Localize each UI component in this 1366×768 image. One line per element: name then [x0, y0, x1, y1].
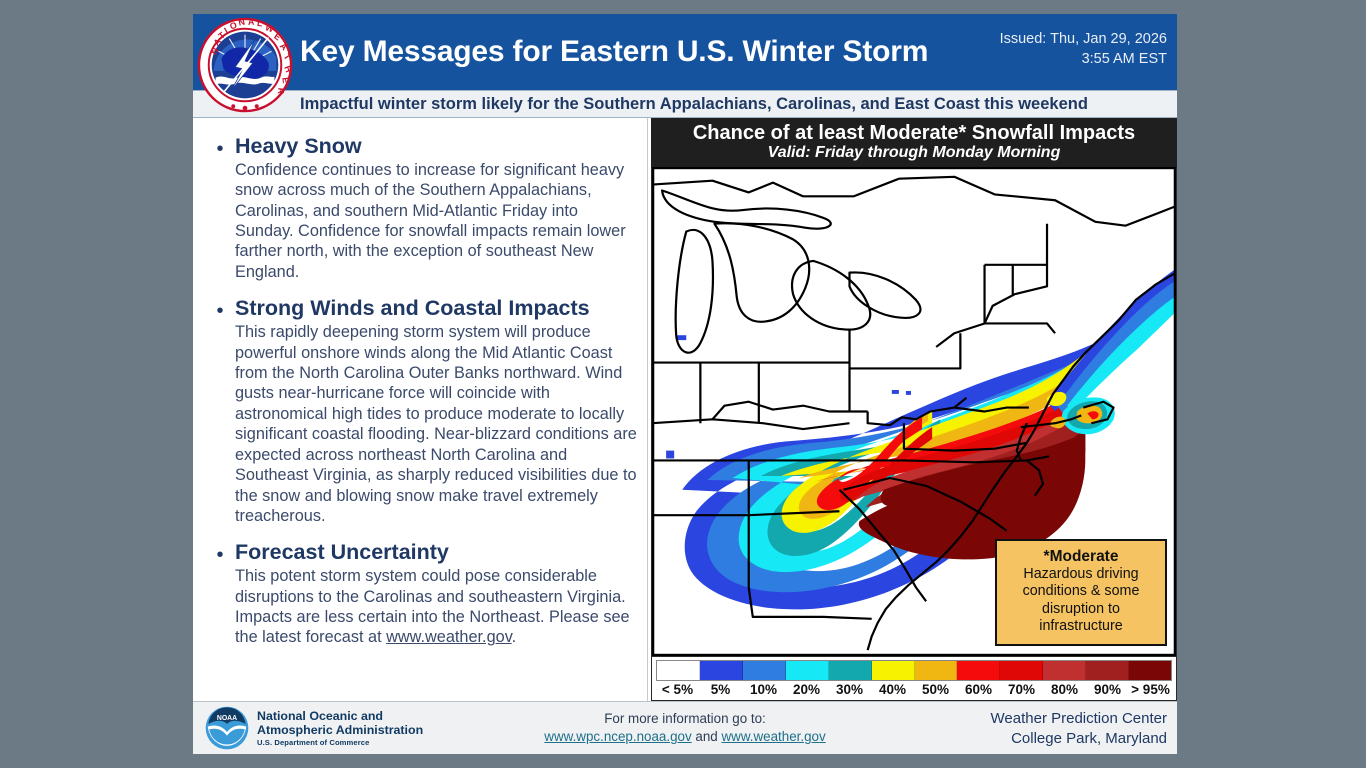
- colorbar-tick-label: 80%: [1043, 681, 1086, 699]
- message-heading: Strong Winds and Coastal Impacts: [235, 296, 641, 321]
- subtitle-text: Impactful winter storm likely for the So…: [300, 95, 1088, 114]
- colorbar-tick-label: 70%: [1000, 681, 1043, 699]
- wpc-link[interactable]: www.wpc.ncep.noaa.gov: [544, 729, 691, 744]
- moderate-title: *Moderate: [1001, 547, 1161, 566]
- issued-timestamp: Issued: Thu, Jan 29, 2026 3:55 AM EST: [1000, 30, 1167, 69]
- issued-date: Issued: Thu, Jan 29, 2026: [1000, 30, 1167, 50]
- colorbar-labels: < 5%5%10%20%30%40%50%60%70%80%90%> 95%: [656, 681, 1172, 699]
- message-text: Confidence continues to increase for sig…: [235, 160, 641, 283]
- colorbar-tick-label: 10%: [742, 681, 785, 699]
- colorbar-tick-label: 30%: [828, 681, 871, 699]
- message-text-after-link: .: [512, 628, 517, 646]
- colorbar-tick-label: 60%: [957, 681, 1000, 699]
- key-messages-column: • Heavy Snow Confidence continues to inc…: [193, 118, 648, 701]
- map-frame: Chance of at least Moderate* Snowfall Im…: [651, 118, 1177, 701]
- colorbar-swatch: [872, 661, 915, 680]
- svg-text:E: E: [280, 77, 291, 84]
- colorbar-legend: < 5%5%10%20%30%40%50%60%70%80%90%> 95%: [651, 657, 1177, 701]
- colorbar-swatch: [1129, 661, 1171, 680]
- bullet-icon: •: [205, 540, 235, 647]
- colorbar-swatch: [657, 661, 700, 680]
- colorbar-swatch: [743, 661, 786, 680]
- map-title: Chance of at least Moderate* Snowfall Im…: [653, 122, 1175, 144]
- footer-bar: NOAA National Oceanic and Atmospheric Ad…: [193, 701, 1177, 754]
- colorbar-tick-label: 40%: [871, 681, 914, 699]
- header-bar: N A T I O N A L W E A T H E R Key Messag…: [193, 14, 1177, 90]
- colorbar-swatch: [829, 661, 872, 680]
- footer-office-location: College Park, Maryland: [991, 729, 1167, 749]
- issued-time: 3:55 AM EST: [1000, 50, 1167, 70]
- colorbar-tick-label: 20%: [785, 681, 828, 699]
- message-text: This rapidly deepening storm system will…: [235, 322, 641, 526]
- colorbar-tick-label: 5%: [699, 681, 742, 699]
- body-area: • Heavy Snow Confidence continues to inc…: [193, 118, 1177, 701]
- moderate-line-1: Hazardous driving: [1001, 566, 1161, 583]
- probability-map[interactable]: *Moderate Hazardous driving conditions &…: [651, 167, 1177, 657]
- subtitle-bar: Impactful winter storm likely for the So…: [193, 90, 1177, 118]
- colorbar-tick-label: < 5%: [656, 681, 699, 699]
- colorbar-tick-label: 90%: [1086, 681, 1129, 699]
- footer-office-name: Weather Prediction Center: [991, 709, 1167, 729]
- moderate-line-4: infrastructure: [1001, 618, 1161, 635]
- colorbar-swatch: [700, 661, 743, 680]
- weather-gov-link[interactable]: www.weather.gov: [386, 628, 512, 646]
- bullet-icon: •: [205, 134, 235, 282]
- footer-office: Weather Prediction Center College Park, …: [991, 709, 1167, 748]
- map-title-bar: Chance of at least Moderate* Snowfall Im…: [651, 118, 1177, 167]
- colorbar-swatch: [1043, 661, 1086, 680]
- colorbar-swatch: [957, 661, 1000, 680]
- colorbar-tick-label: > 95%: [1129, 681, 1172, 699]
- colorbar-swatch: [915, 661, 958, 680]
- message-heading: Forecast Uncertainty: [235, 540, 641, 565]
- colorbar-swatch: [1086, 661, 1129, 680]
- bullet-icon: •: [205, 296, 235, 526]
- colorbar-swatch: [786, 661, 829, 680]
- colorbar-swatches: [656, 660, 1172, 681]
- moderate-line-3: disruption to: [1001, 601, 1161, 618]
- key-message-forecast-uncertainty: • Forecast Uncertainty This potent storm…: [205, 540, 641, 647]
- map-valid-period: Valid: Friday through Monday Morning: [653, 144, 1175, 162]
- message-heading: Heavy Snow: [235, 134, 641, 159]
- svg-text:A: A: [248, 17, 255, 27]
- moderate-definition-box: *Moderate Hazardous driving conditions &…: [995, 539, 1167, 646]
- key-message-strong-winds: • Strong Winds and Coastal Impacts This …: [205, 296, 641, 526]
- nws-logo-icon: N A T I O N A L W E A T H E R: [196, 16, 294, 114]
- footer-conjunction: and: [692, 729, 722, 744]
- colorbar-swatch: [1000, 661, 1043, 680]
- message-text: This potent storm system could pose cons…: [235, 566, 641, 648]
- key-message-heavy-snow: • Heavy Snow Confidence continues to inc…: [205, 134, 641, 282]
- slide-container: N A T I O N A L W E A T H E R Key Messag…: [193, 14, 1177, 754]
- weather-gov-footer-link[interactable]: www.weather.gov: [721, 729, 825, 744]
- map-panel: Chance of at least Moderate* Snowfall Im…: [648, 118, 1177, 701]
- colorbar-tick-label: 50%: [914, 681, 957, 699]
- moderate-line-2: conditions & some: [1001, 583, 1161, 600]
- page-title: Key Messages for Eastern U.S. Winter Sto…: [300, 35, 928, 69]
